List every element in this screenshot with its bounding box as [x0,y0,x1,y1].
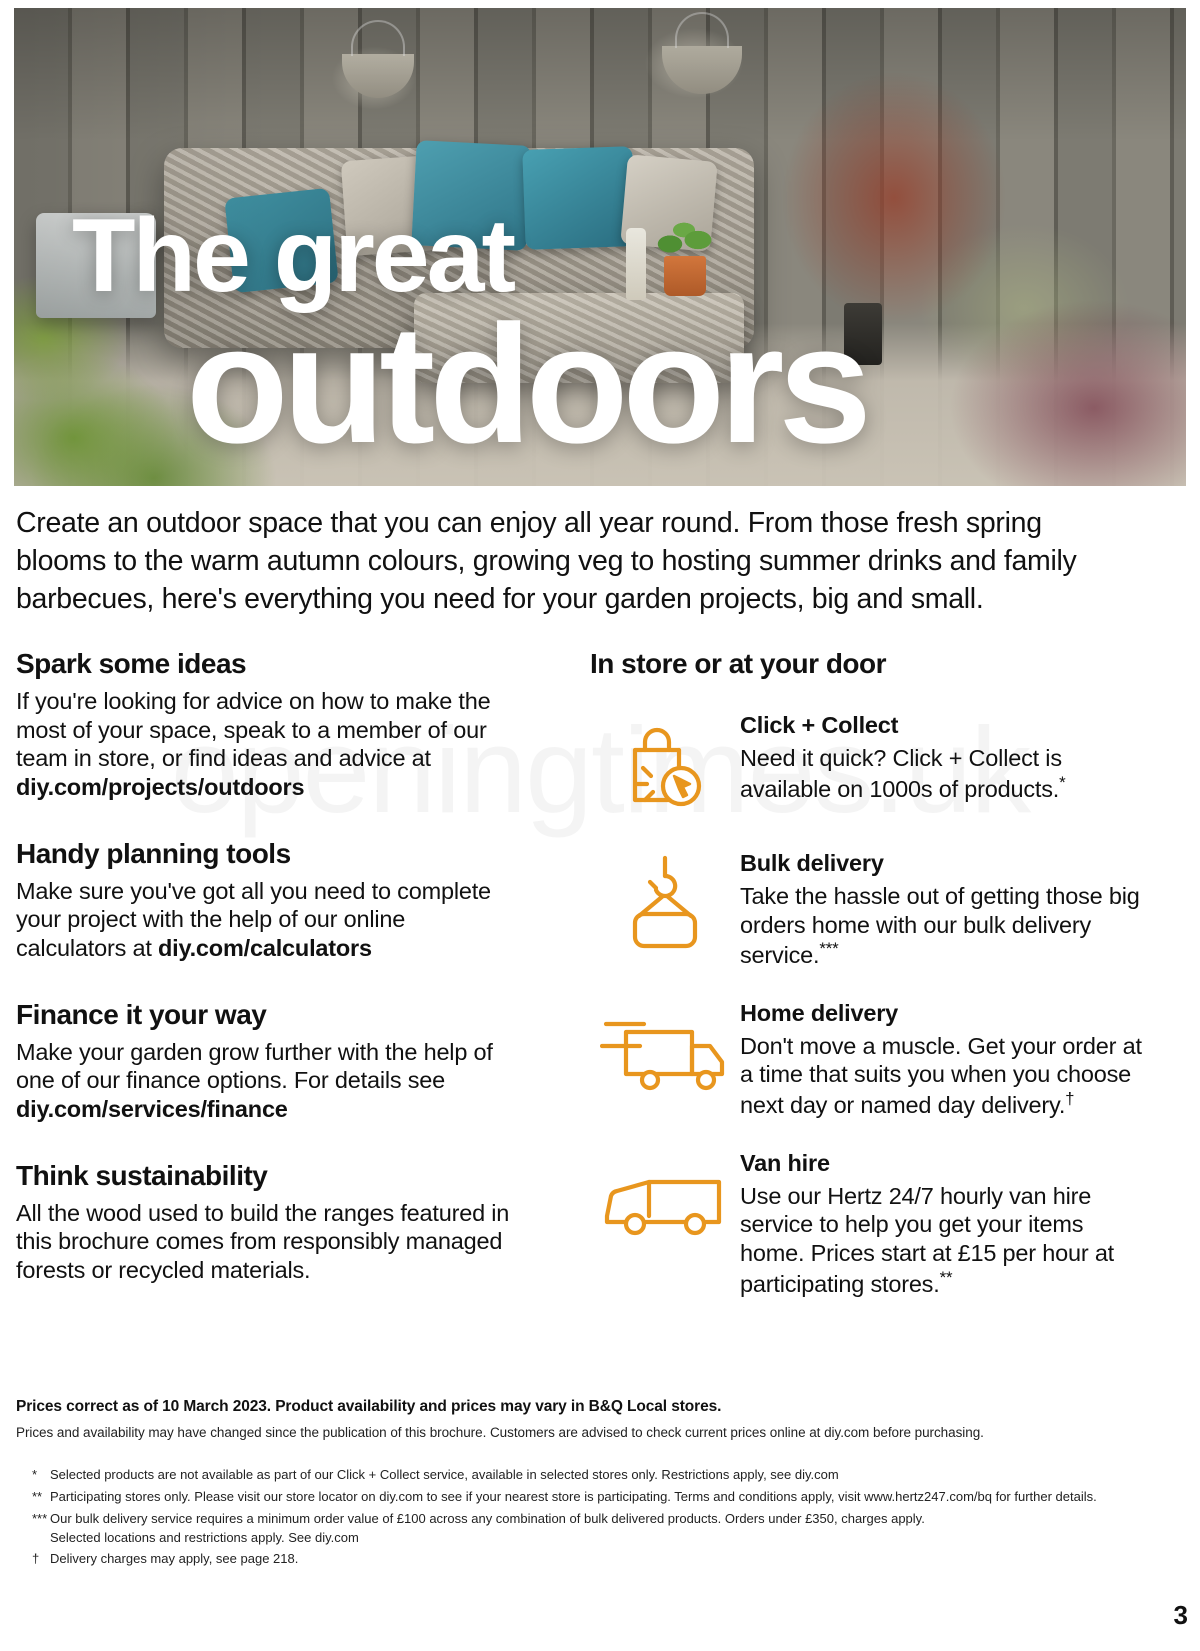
service-body: Take the hassle out of getting those big… [740,882,1150,970]
hero-banner: The great outdoors [14,8,1186,486]
shopping-bag-click-icon [590,708,740,820]
link-calculators[interactable]: diy.com/calculators [158,935,372,961]
body-spark-some-ideas: If you're looking for advice on how to m… [16,687,516,802]
brochure-page: The great outdoors openingtimes.uk Creat… [0,0,1200,1651]
service-van-hire: Van hire Use our Hertz 24/7 hourly van h… [590,1144,1150,1298]
footnote-mark: † [1065,1089,1074,1108]
footnote-mark: † [16,1550,50,1569]
service-heading: Home delivery [740,1000,1150,1027]
service-heading: Van hire [740,1150,1150,1177]
page-number: 3 [1174,1600,1188,1631]
footnotes-list: * Selected products are not available as… [16,1466,1186,1569]
footnote-text: Selected products are not available as p… [50,1466,1186,1485]
body-text: If you're looking for advice on how to m… [16,688,491,771]
delivery-truck-icon [590,996,740,1108]
heading-finance-it-your-way: Finance it your way [16,999,516,1031]
footnote-text: Our bulk delivery service requires a min… [50,1511,925,1526]
service-home-delivery: Home delivery Don't move a muscle. Get y… [590,994,1150,1120]
heading-handy-planning-tools: Handy planning tools [16,838,516,870]
heading-think-sustainability: Think sustainability [16,1160,516,1192]
service-heading: Bulk delivery [740,850,1150,877]
body-think-sustainability: All the wood used to build the ranges fe… [16,1199,516,1285]
footnote-text-group: Our bulk delivery service requires a min… [50,1510,1186,1548]
footer-legal: Prices correct as of 10 March 2023. Prod… [16,1398,1186,1572]
footnote-text: Delivery charges may apply, see page 218… [50,1550,1186,1569]
intro-paragraph: Create an outdoor space that you can enj… [16,505,1126,619]
footnote-mark: *** [16,1510,50,1548]
footnote-item: *** Our bulk delivery service requires a… [16,1510,1186,1548]
body-finance-it-your-way: Make your garden grow further with the h… [16,1038,516,1124]
service-heading: Click + Collect [740,712,1150,739]
body-text: Make your garden grow further with the h… [16,1039,493,1094]
heading-in-store-or-at-your-door: In store or at your door [590,648,1150,680]
link-projects-outdoors[interactable]: diy.com/projects/outdoors [16,774,304,800]
footnote-item: ** Participating stores only. Please vis… [16,1488,1186,1507]
prices-correct-note: Prices correct as of 10 March 2023. Prod… [16,1398,1186,1416]
footnote-item: * Selected products are not available as… [16,1466,1186,1485]
body-handy-planning-tools: Make sure you've got all you need to com… [16,877,516,963]
footnote-mark: *** [819,939,838,958]
hero-overlay [14,8,1186,486]
service-bulk-delivery: Bulk delivery Take the hassle out of get… [590,844,1150,970]
service-body: Use our Hertz 24/7 hourly van hire servi… [740,1182,1150,1298]
service-body: Need it quick? Click + Collect is availa… [740,744,1150,803]
heading-spark-some-ideas: Spark some ideas [16,648,516,680]
service-text: Home delivery Don't move a muscle. Get y… [740,994,1150,1120]
left-column: Spark some ideas If you're looking for a… [16,648,516,1285]
block-think-sustainability: Think sustainability All the wood used t… [16,1160,516,1285]
service-body-text: Take the hassle out of getting those big… [740,883,1140,968]
service-click-and-collect: Click + Collect Need it quick? Click + C… [590,706,1150,820]
right-column: In store or at your door Click + Collect… [590,648,1150,1322]
link-services-finance[interactable]: diy.com/services/finance [16,1096,288,1122]
footnote-item: † Delivery charges may apply, see page 2… [16,1550,1186,1569]
footnote-mark: * [16,1466,50,1485]
block-handy-planning-tools: Handy planning tools Make sure you've go… [16,838,516,963]
footnote-text: Participating stores only. Please visit … [50,1488,1186,1507]
block-finance-it-your-way: Finance it your way Make your garden gro… [16,999,516,1124]
service-body-text: Use our Hertz 24/7 hourly van hire servi… [740,1183,1114,1297]
service-body: Don't move a muscle. Get your order at a… [740,1032,1150,1120]
block-spark-some-ideas: Spark some ideas If you're looking for a… [16,648,516,802]
service-text: Bulk delivery Take the hassle out of get… [740,844,1150,970]
availability-note: Prices and availability may have changed… [16,1425,1186,1440]
crane-hook-load-icon [590,846,740,958]
footnote-mark: ** [940,1268,953,1287]
footnote-mark: ** [16,1488,50,1507]
service-body-text: Need it quick? Click + Collect is availa… [740,745,1062,801]
van-icon [590,1146,740,1258]
service-text: Click + Collect Need it quick? Click + C… [740,706,1150,803]
service-text: Van hire Use our Hertz 24/7 hourly van h… [740,1144,1150,1298]
footnote-text-continued: Selected locations and restrictions appl… [50,1529,1186,1548]
footnote-mark: * [1059,773,1065,792]
service-body-text: Don't move a muscle. Get your order at a… [740,1033,1142,1118]
